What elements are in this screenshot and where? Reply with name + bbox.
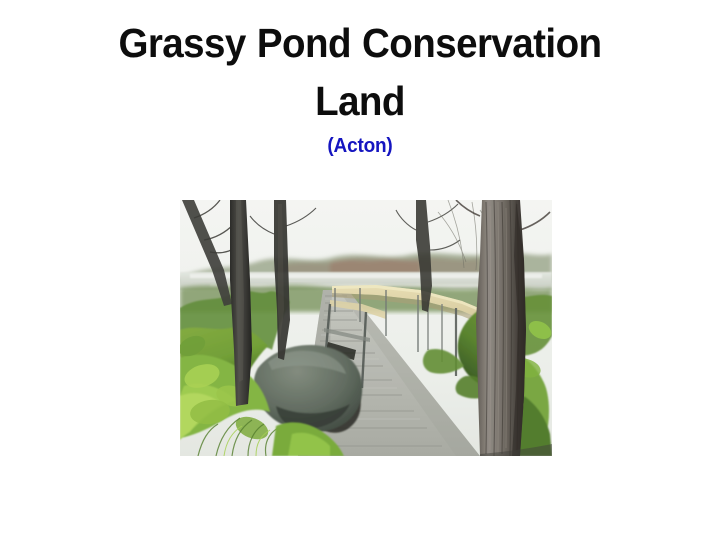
title-block: Grassy Pond Conservation Land (Acton) [50, 14, 670, 158]
boardwalk-photo-image [180, 200, 552, 456]
boardwalk-photo [180, 200, 552, 456]
page-title: Grassy Pond Conservation Land [69, 14, 652, 130]
page-subtitle: (Acton) [66, 134, 655, 158]
slide-canvas: Grassy Pond Conservation Land (Acton) [0, 0, 720, 540]
